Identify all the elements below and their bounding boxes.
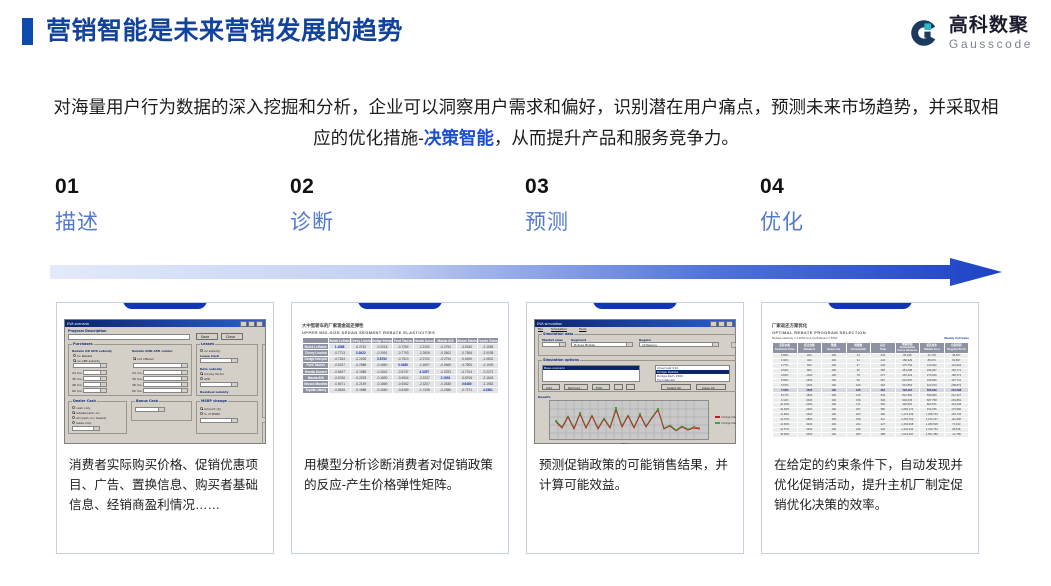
card-diagnose[interactable]: 大中型轿车的厂家现金返还弹性 UPPER MID-SIZE SEDAN SEGM… [291, 302, 509, 554]
window-controls[interactable] [240, 321, 264, 327]
edit-button-label: Edit [596, 386, 602, 390]
label-not-offered: not offered [137, 357, 154, 361]
combo-market-view[interactable] [542, 342, 566, 347]
radio-apr[interactable] [200, 377, 203, 380]
window-title-text: EVA simulation [536, 322, 562, 326]
maximize-icon[interactable] [718, 321, 725, 327]
card-describe[interactable]: EVA scenario Program Description Save Cl… [56, 302, 274, 554]
card-predict-caption: 预测促销政策的可能销售结果，并计算可能效益。 [539, 455, 733, 495]
group-leases-label: Leases [200, 342, 215, 346]
combo-lease-cash[interactable] [200, 358, 238, 363]
label-lease-only: lease only [76, 421, 91, 425]
list-models[interactable]: Chevrolet S10 Dodge Dakota Dodge Ram 150… [655, 365, 730, 382]
rebate-col-header: 实际价格Customer Price [773, 342, 798, 353]
card-diagnose-thumbnail: 大中型轿车的厂家现金返还弹性 UPPER MID-SIZE SEDAN SEGM… [299, 319, 501, 444]
window-titlebar: EVA scenario [65, 320, 265, 327]
group-base-incentives: Base incentives [262, 344, 266, 418]
gausscode-logo-icon [908, 17, 940, 49]
combo-msrp-change[interactable] [200, 418, 238, 423]
matrix-cell: -0.1560 [371, 387, 392, 393]
close-button-label: Close [226, 335, 235, 339]
step-03-number: 03 [525, 176, 745, 197]
label-program-description: Program Description [68, 329, 106, 333]
elasticity-matrix: 大中型轿车的厂家现金返还弹性 UPPER MID-SIZE SEDAN SEGM… [299, 319, 501, 444]
matrix-title-cn: 大中型轿车的厂家现金返还弹性 [302, 323, 499, 329]
progress-arrow-icon [50, 258, 1002, 286]
rebate-cell: 265 [846, 432, 871, 437]
card-predict-thumbnail: EVA simulation File Simulation Tools Sim… [534, 319, 736, 444]
intro-paragraph: 对海量用户行为数据的深入挖掘和分析，企业可以洞察用户需求和偏好，识别潜在用户痛点… [45, 92, 1007, 154]
combo-term-60[interactable] [83, 388, 107, 393]
rebate-col-header: 返还金额Rebate $ [797, 342, 822, 353]
card-tab-icon [123, 302, 207, 309]
rebate-col-header: 增量收益IncrementalGross Revenue [895, 342, 920, 353]
label-rebate-or-apr: Rebate OR APR subsidy [72, 349, 112, 353]
eva-simulation-window: EVA simulation File Simulation Tools Sim… [534, 319, 736, 444]
radio-not-offered[interactable] [133, 357, 136, 360]
label-combo-term-36: 36 mo. [132, 377, 142, 381]
rebate-col-header: 总计Total [871, 342, 896, 353]
step-02: 02 诊断 [290, 176, 510, 233]
minimize-icon[interactable] [240, 321, 247, 327]
legend-item-est: Dodge Dakota est [715, 415, 736, 419]
label-rebate-cash-inc: rebate/cash, inc [76, 411, 100, 415]
label-combo-term-24: 24 mo. [132, 371, 142, 375]
combo-rate-60[interactable] [143, 388, 188, 393]
matrix-cell: -0.6189 [393, 387, 414, 393]
matrix-cell: -0.2386 [435, 387, 456, 393]
step-03-label: 预测 [525, 212, 745, 233]
combo-dealer-cash-amount[interactable] [72, 426, 100, 431]
step-04-label: 优化 [760, 212, 980, 233]
label-apr: APR [204, 377, 210, 381]
label-no-rebate: no Rebate [77, 354, 92, 358]
combo-rate-48[interactable] [143, 382, 188, 387]
rebate-col-header: 返还成本Rebate Cost [920, 342, 945, 353]
combo-rate-subsidy[interactable] [200, 382, 238, 387]
input-program-description[interactable] [68, 334, 190, 340]
card-describe-thumbnail: EVA scenario Program Description Save Cl… [64, 319, 266, 444]
label-all-cash-inc: all (cash, inc based) [76, 416, 106, 420]
remove-button-label: Remove [568, 386, 580, 390]
add-button-label: Add [546, 386, 552, 390]
optimal-rebate-table: 厂家返还方案优化 OPTIMAL REBATE PROGRAM SELECTIO… [769, 319, 971, 444]
move-up-button[interactable] [614, 384, 623, 390]
combo-combo-amount[interactable] [133, 363, 188, 368]
card-optimize-thumbnail: 厂家返还方案优化 OPTIMAL REBATE PROGRAM SELECTIO… [769, 319, 971, 444]
window-body: Program Description Save Close Purchases… [65, 327, 265, 443]
label-term-36: 36 mo. [72, 377, 82, 381]
group-msrp-change-label: MSRP change [200, 399, 228, 403]
list-item[interactable]: Ford Ranger [656, 378, 729, 382]
radio-msrp-percent[interactable] [200, 412, 203, 415]
window-title-text: EVA scenario [66, 322, 89, 326]
list-item[interactable]: Base scenario [543, 366, 639, 370]
label-msrp-percent: % of MSRP [204, 412, 220, 416]
run-case-button[interactable] [731, 342, 736, 348]
window-controls[interactable] [710, 321, 734, 327]
save-button-label: Save [201, 335, 209, 339]
chart-axis-label: Week [621, 442, 629, 444]
results-chart-svg [550, 401, 710, 441]
rebate-cell: 458 [871, 432, 896, 437]
window-body: File Simulation Tools Simulation data Ma… [535, 327, 735, 443]
clear-all-label: Clear All [702, 386, 715, 390]
radio-msrp-amount[interactable] [200, 407, 203, 410]
eva-scenario-window: EVA scenario Program Description Save Cl… [64, 319, 266, 444]
step-01: 01 描述 [55, 176, 275, 233]
card-diagnose-caption: 用模型分析诊断消费者对促销政策的反应-产生价格弹性矩阵。 [304, 455, 498, 495]
label-results: Results [538, 395, 551, 399]
group-simulation-options-label: Simulation options [542, 358, 580, 362]
rebate-col-header: 方案利润Program Profit [944, 342, 969, 353]
label-no-subsidy: no subsidy [204, 349, 220, 353]
matrix-title-en: UPPER MID-SIZE SEDAN SEGMENT REBATE ELAS… [302, 330, 499, 335]
label-money-factor: money factor [204, 372, 224, 376]
legend-label-actual: Dodge Dakota actual [722, 421, 737, 425]
rebate-sub-left: Rebate elasticity = 0.8752 Unit Contribu… [772, 336, 837, 340]
title-bullet-icon [22, 18, 33, 45]
legend-swatch-actual [715, 422, 720, 423]
rebate-title-cn: 厂家返还方案优化 [772, 323, 969, 329]
combo-rate-24[interactable] [143, 370, 188, 375]
select-all-label: Select All [667, 386, 681, 390]
move-down-button[interactable] [626, 384, 635, 390]
value-region: All Regions [642, 343, 657, 347]
card-tab-icon [593, 302, 677, 309]
group-simulation-data-label: Simulation data [542, 332, 574, 336]
label-term-48: 48 mo. [72, 383, 82, 387]
minimize-icon[interactable] [710, 321, 717, 327]
intro-highlight: 决策智能 [424, 128, 494, 148]
combo-rate-36[interactable] [143, 376, 188, 381]
table-row: 15.48%34001902654581,534,4971,557,286-22… [773, 432, 969, 437]
matrix-cell: -0.1988 [350, 387, 371, 393]
group-dealer-cash-label: Dealer Cash [72, 399, 97, 403]
radio-lease-only[interactable] [72, 421, 75, 424]
step-04-number: 04 [760, 176, 980, 197]
table-row: Toyota Camry-0.5645-0.1988-0.1560-0.6189… [303, 387, 499, 393]
card-optimize[interactable]: 厂家返还方案优化 OPTIMAL REBATE PROGRAM SELECTIO… [761, 302, 979, 554]
combo-bonus-cash[interactable] [135, 407, 165, 412]
brand-logo: 高科数聚 Gausscode [908, 16, 1033, 50]
legend-item-actual: Dodge Dakota actual [715, 421, 736, 425]
label-rebate-and-apr: Rebate AND APR combo [132, 349, 172, 353]
card-tab-icon [828, 302, 912, 309]
rebate-cell: 3400 [797, 432, 822, 437]
matrix-row-header: Toyota Camry [303, 387, 329, 393]
radio-rebate-cash-inc[interactable] [72, 411, 75, 414]
step-04: 04 优化 [760, 176, 980, 233]
label-term-60: 60 mo. [72, 389, 82, 393]
title-row: 营销智能是未来营销发展的趋势 [22, 18, 403, 45]
matrix-cell: -0.5645 [329, 387, 350, 393]
combo-term-48[interactable] [83, 382, 107, 387]
page-header: 营销智能是未来营销发展的趋势 高科数聚 Gausscode [0, 0, 1051, 72]
step-labels: 01 描述 02 诊断 03 预测 04 优化 [55, 176, 1005, 248]
close-icon[interactable] [256, 321, 263, 327]
label-combo-term-60: 60 mo. [132, 389, 142, 393]
card-predict[interactable]: EVA simulation File Simulation Tools Sim… [526, 302, 744, 554]
label-msrp-amount: amount ($) [204, 407, 221, 411]
page-title: 营销智能是未来营销发展的趋势 [46, 19, 403, 44]
step-02-number: 02 [290, 176, 510, 197]
matrix-table: Buick LeSabreChevy LuminaDodge IntrepidF… [302, 337, 499, 394]
legend-label-est: Dodge Dakota est [722, 415, 737, 419]
rebate-cell: -22,789 [944, 432, 969, 437]
combo-term-24[interactable] [83, 370, 107, 375]
radio-cash-only[interactable] [72, 406, 75, 409]
group-purchases-label: Purchases [72, 342, 94, 346]
brand-text: 高科数聚 Gausscode [949, 16, 1033, 50]
window-titlebar: EVA simulation [535, 320, 735, 327]
rebate-col-header: 增量数Incremental [846, 342, 871, 353]
group-bonus-cash-label: Bonus Cash [135, 399, 159, 403]
rebate-sub-right: Weekly Unit Sales [944, 336, 969, 340]
step-01-number: 01 [55, 176, 275, 197]
matrix-cell: -1.7436 [414, 387, 435, 393]
close-icon[interactable] [726, 321, 733, 327]
matrix-cell: 4.2561 [477, 387, 498, 393]
label-combo-term-48: 48 mo. [132, 383, 142, 387]
radio-no-apr-subsidy[interactable] [73, 359, 76, 362]
matrix-cell: -0.7271 [456, 387, 477, 393]
card-describe-caption: 消费者实际购买价格、促销优惠项目、广告、置换信息、购买者基础信息、经销商盈利情况… [69, 455, 263, 515]
label-residual-subsidy: Residual subsidy [200, 390, 229, 394]
label-rate-subsidy: Rate subsidy [200, 367, 222, 371]
menu-file[interactable]: File [538, 327, 543, 331]
label-no-apr-subsidy: no APR subsidy [77, 359, 100, 363]
brand-name-cn: 高科数聚 [949, 16, 1033, 35]
intro-text-part2: ，从而提升产品和服务竞争力。 [494, 128, 739, 148]
table-header-row: 实际价格Customer Price返还金额Rebate $数量Base Lin… [773, 342, 969, 353]
rebate-cell: 190 [822, 432, 847, 437]
combo-rebate-amount[interactable] [73, 363, 107, 368]
rebate-title-en: OPTIMAL REBATE PROGRAM SELECTION [772, 330, 969, 335]
value-segment: Pickups Midsize [574, 343, 595, 347]
card-row: EVA scenario Program Description Save Cl… [0, 298, 1051, 560]
maximize-icon[interactable] [248, 321, 255, 327]
radio-all-cash-inc[interactable] [72, 416, 75, 419]
step-02-label: 诊断 [290, 212, 510, 233]
rebate-cell: 1,534,497 [895, 432, 920, 437]
card-optimize-caption: 在给定的约束条件下，自动发现并优化促销活动，提升主机厂制定促销优化决策的效率。 [774, 455, 968, 515]
brand-name-en: Gausscode [949, 38, 1033, 50]
rebate-col-header: 数量Base Line [822, 342, 847, 353]
rebate-cell: 1,557,286 [920, 432, 945, 437]
step-03: 03 预测 [525, 176, 745, 233]
label-term-24: 24 mo. [72, 371, 82, 375]
menu-tools[interactable]: Tools [579, 327, 586, 331]
card-tab-icon [358, 302, 442, 309]
label-cash-only: cash only [76, 406, 90, 410]
legend-swatch-est [715, 416, 720, 417]
radio-money-factor[interactable] [200, 372, 203, 375]
radio-no-rebate[interactable] [73, 354, 76, 357]
menu-simulation[interactable]: Simulation [551, 327, 567, 331]
results-chart [549, 400, 709, 440]
step-01-label: 描述 [55, 212, 275, 233]
rebate-cell: 15.48% [773, 432, 798, 437]
radio-no-lease-subsidy[interactable] [200, 349, 203, 352]
combo-term-36[interactable] [83, 376, 107, 381]
list-scenarios[interactable]: Base scenario [542, 365, 640, 382]
rebate-subline: Rebate elasticity = 0.8752 Unit Contribu… [772, 336, 969, 340]
rebate-table: 实际价格Customer Price返还金额Rebate $数量Base Lin… [772, 342, 969, 438]
